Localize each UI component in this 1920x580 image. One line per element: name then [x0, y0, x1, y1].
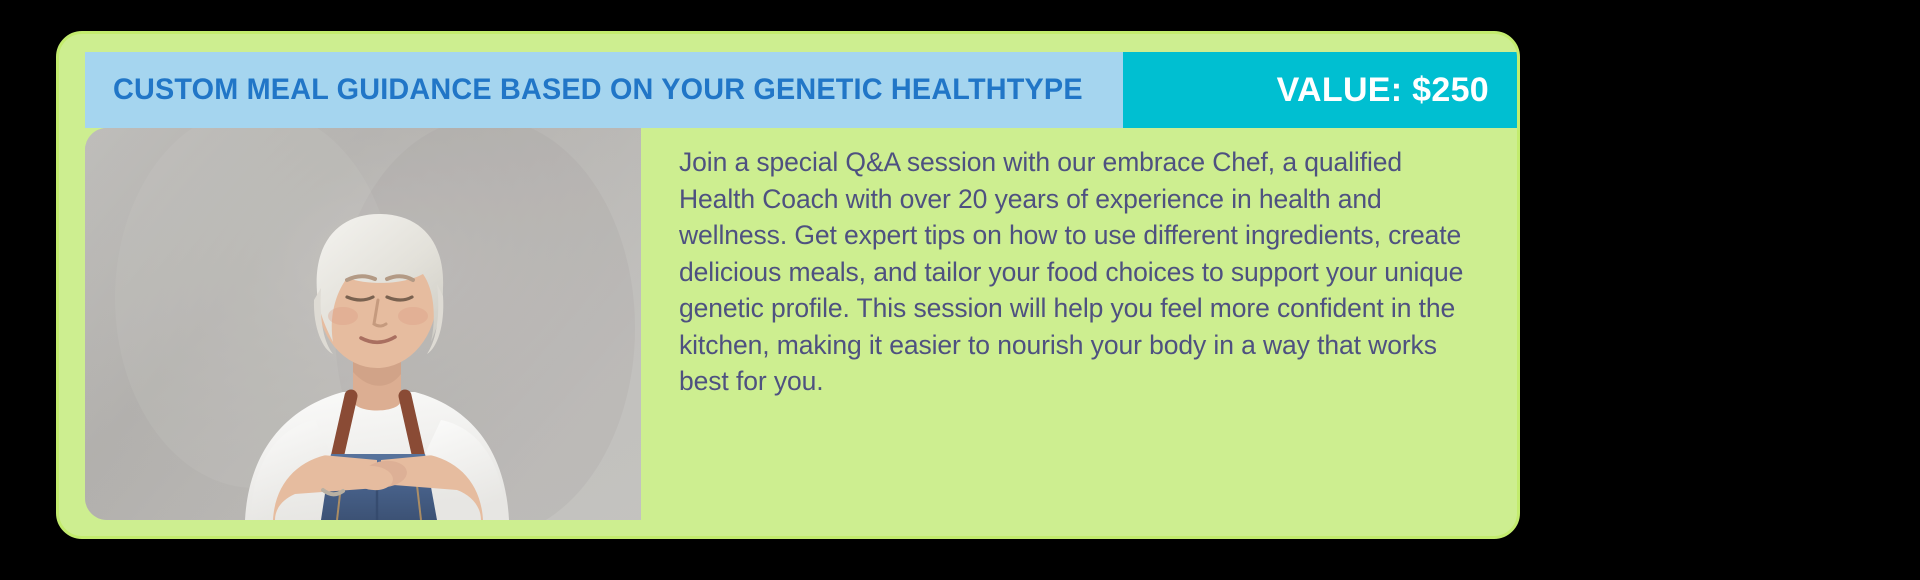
header-title-bar: CUSTOM MEAL GUIDANCE BASED ON YOUR GENET… [85, 52, 1123, 128]
header-value-bar: VALUE: $250 [1123, 52, 1517, 128]
card-header: CUSTOM MEAL GUIDANCE BASED ON YOUR GENET… [85, 52, 1517, 128]
offer-card: CUSTOM MEAL GUIDANCE BASED ON YOUR GENET… [56, 31, 1520, 539]
header-title: CUSTOM MEAL GUIDANCE BASED ON YOUR GENET… [113, 73, 1083, 107]
screenshot-canvas: CUSTOM MEAL GUIDANCE BASED ON YOUR GENET… [0, 0, 1920, 580]
description-column: Join a special Q&A session with our embr… [679, 144, 1479, 400]
value-badge: VALUE: $250 [1277, 71, 1489, 110]
chef-photo-illustration [85, 128, 641, 520]
chef-photo [85, 128, 641, 520]
description-text: Join a special Q&A session with our embr… [679, 144, 1479, 400]
